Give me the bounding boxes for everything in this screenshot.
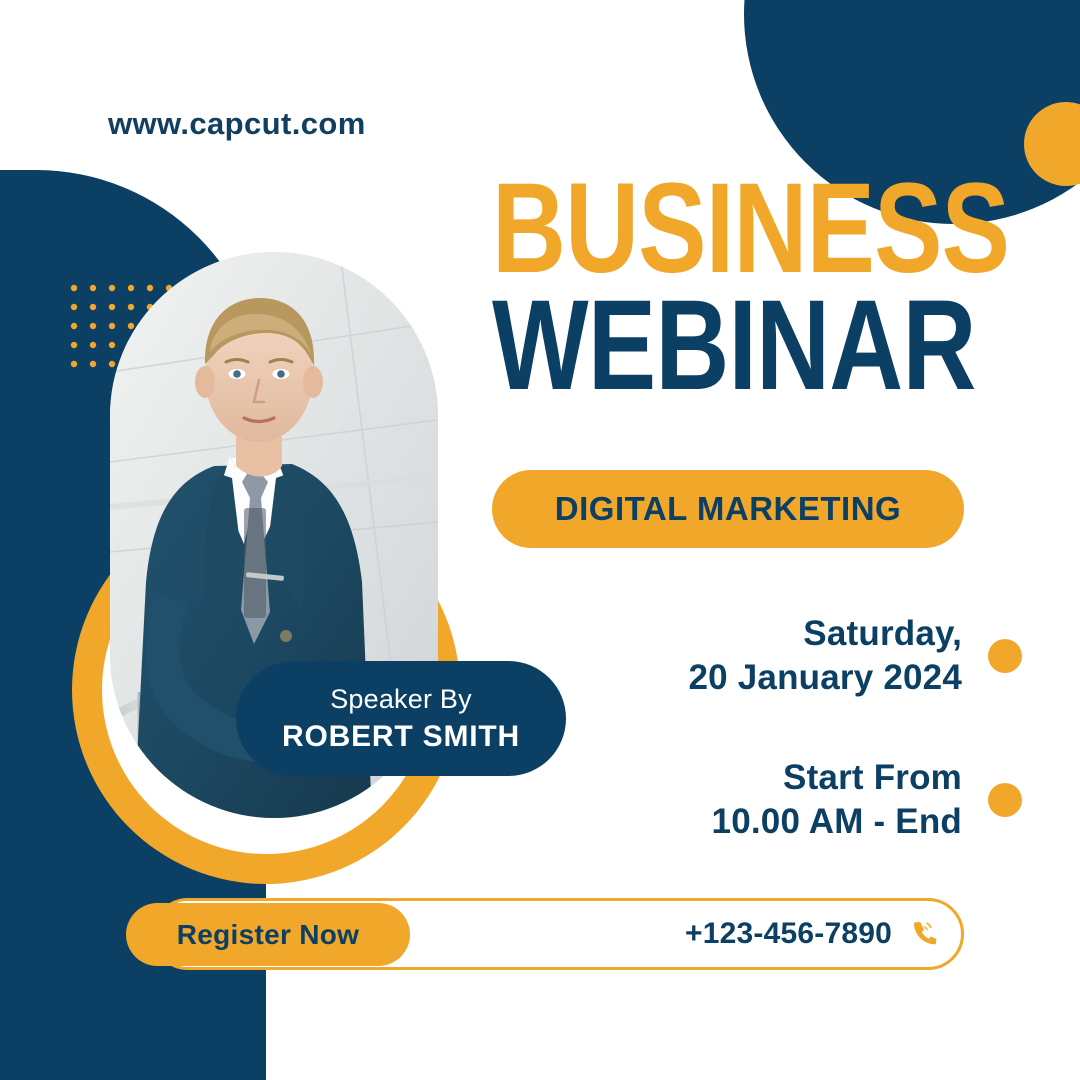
bullet-dot-icon [988,783,1022,817]
event-date-line2: 20 January 2024 [542,656,962,700]
event-date-row: Saturday, 20 January 2024 [542,612,962,700]
subtitle-label: DIGITAL MARKETING [555,490,901,528]
event-date-line1: Saturday, [542,612,962,656]
phone-ringing-icon [906,914,946,954]
phone-group[interactable]: +123-456-7890 [685,898,946,970]
phone-number[interactable]: +123-456-7890 [685,917,892,951]
event-time-row: Start From 10.00 AM - End [542,756,962,844]
headline-line-webinar: WEBINAR [492,285,870,408]
website-url[interactable]: www.capcut.com [108,106,366,142]
event-time-line2: 10.00 AM - End [542,800,962,844]
webinar-poster: www.capcut.com BUSINESS WEBINAR DIGITAL … [0,0,1080,1080]
subtitle-pill: DIGITAL MARKETING [492,470,964,548]
register-now-label: Register Now [177,919,360,951]
event-time-line1: Start From [542,756,962,800]
speaker-name: ROBERT SMITH [282,720,520,754]
headline-line-business: BUSINESS [492,168,870,291]
event-info: Saturday, 20 January 2024 Start From 10.… [542,612,962,900]
register-now-button[interactable]: Register Now [126,903,410,966]
speaker-badge: Speaker By ROBERT SMITH [236,661,566,776]
speaker-role-label: Speaker By [330,683,472,715]
bullet-dot-icon [988,639,1022,673]
headline: BUSINESS WEBINAR [492,168,964,408]
